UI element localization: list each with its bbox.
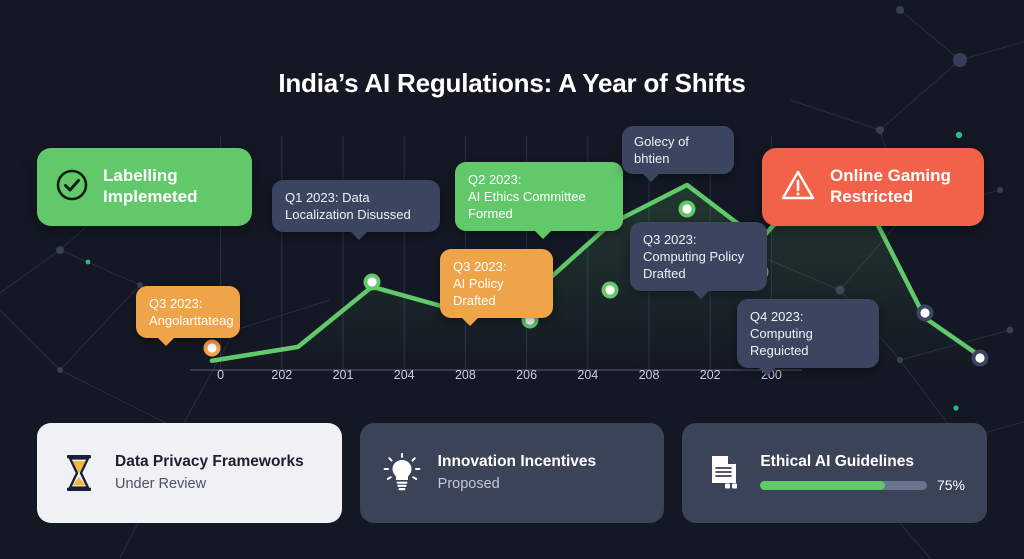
status-pill-gaming[interactable]: Online Gaming Restricted bbox=[762, 148, 984, 226]
status-pill-labelling-label: Labelling Implemeted bbox=[103, 166, 234, 207]
tooltip-q4[interactable]: Q4 2023: Computing Reguicted bbox=[737, 299, 879, 368]
data-point[interactable] bbox=[367, 277, 376, 286]
tooltip-q3-policy[interactable]: Q3 2023: AI Policy Drafted bbox=[440, 249, 553, 318]
progress-track[interactable] bbox=[760, 481, 927, 490]
card-ethical-ai-title: Ethical AI Guidelines bbox=[760, 453, 965, 472]
warning-triangle-icon bbox=[780, 168, 816, 207]
tooltip-q1[interactable]: Q1 2023: Data Localization Disussed bbox=[272, 180, 440, 232]
card-innovation-title: Innovation Incentives bbox=[438, 453, 643, 472]
x-axis-tick: 204 bbox=[577, 368, 598, 382]
card-data-privacy[interactable]: Data Privacy Frameworks Under Review bbox=[37, 423, 342, 523]
tooltip-q2[interactable]: Q2 2023: AI Ethics Committee Formed bbox=[455, 162, 623, 231]
lightbulb-icon bbox=[382, 451, 422, 495]
chart-x-axis: 0202201204208206204208202200 bbox=[190, 368, 802, 390]
data-point[interactable] bbox=[975, 353, 984, 362]
progress-label: 75% bbox=[937, 477, 965, 493]
hourglass-icon bbox=[59, 451, 99, 495]
x-axis-tick: 206 bbox=[516, 368, 537, 382]
card-ethical-ai[interactable]: Ethical AI Guidelines 75% bbox=[682, 423, 987, 523]
card-data-privacy-subtitle: Under Review bbox=[115, 476, 320, 493]
card-innovation-subtitle: Proposed bbox=[438, 476, 643, 493]
x-axis-tick: 201 bbox=[333, 368, 354, 382]
data-point[interactable] bbox=[682, 204, 691, 213]
x-axis-tick: 208 bbox=[639, 368, 660, 382]
x-axis-tick: 202 bbox=[700, 368, 721, 382]
card-innovation[interactable]: Innovation Incentives Proposed bbox=[360, 423, 665, 523]
data-point[interactable] bbox=[207, 343, 216, 352]
progress-fill bbox=[760, 481, 885, 490]
x-axis-tick: 0 bbox=[217, 368, 224, 382]
x-axis-tick: 204 bbox=[394, 368, 415, 382]
data-point[interactable] bbox=[605, 285, 614, 294]
page-title: India’s AI Regulations: A Year of Shifts bbox=[0, 68, 1024, 99]
tooltip-left[interactable]: Q3 2023: Angolarttateag bbox=[136, 286, 240, 338]
tooltip-q3-computing[interactable]: Q3 2023: Computing Policy Drafted bbox=[630, 222, 767, 291]
x-axis-tick: 202 bbox=[271, 368, 292, 382]
summary-cards: Data Privacy Frameworks Under Review bbox=[37, 423, 987, 523]
x-axis-tick: 208 bbox=[455, 368, 476, 382]
check-circle-icon bbox=[55, 168, 89, 207]
ethical-ai-progress: 75% bbox=[760, 477, 965, 493]
document-icon bbox=[704, 451, 744, 495]
status-pill-gaming-label: Online Gaming Restricted bbox=[830, 166, 966, 207]
card-data-privacy-title: Data Privacy Frameworks bbox=[115, 453, 320, 472]
data-point[interactable] bbox=[920, 308, 929, 317]
status-pill-labelling[interactable]: Labelling Implemeted bbox=[37, 148, 252, 226]
tooltip-policy[interactable]: Golecy of bhtien bbox=[622, 126, 734, 174]
